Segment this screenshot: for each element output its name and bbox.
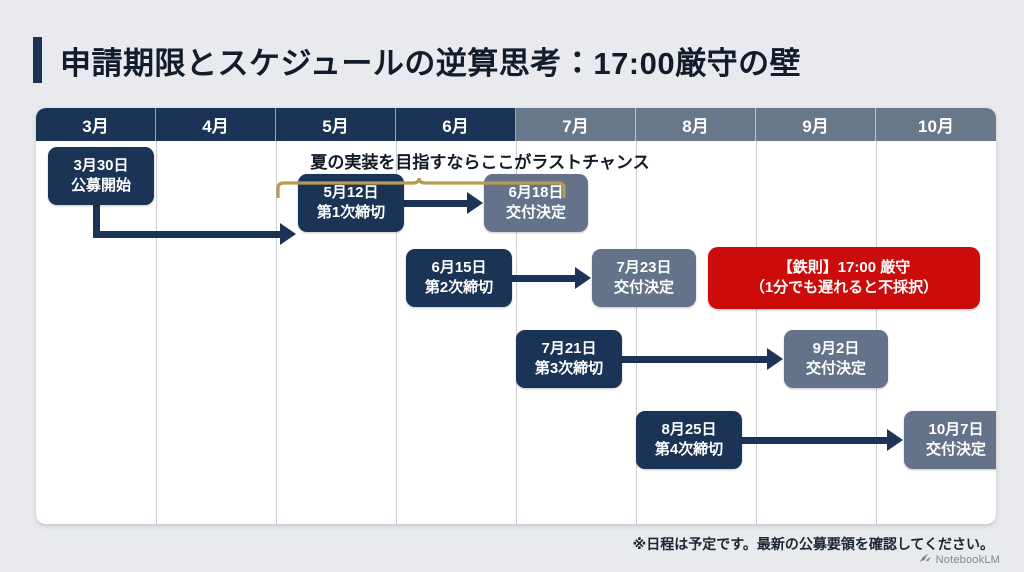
node-label: 交付決定 [926,440,986,460]
node-date: 9月2日 [813,339,860,359]
node-date: 7月23日 [616,258,671,278]
node-label: 第3次締切 [535,359,603,379]
grid-line [756,141,757,524]
node-shimekiri-4[interactable]: 8月25日 第4次締切 [636,411,742,469]
grid-line [156,141,157,524]
node-date: 8月25日 [661,420,716,440]
warning-line-2: （1分でも遅れると不採択） [750,278,938,298]
node-date: 7月21日 [541,339,596,359]
notebooklm-watermark-text: NotebookLM [936,554,1000,566]
node-date: 6月15日 [431,258,486,278]
connector-deadline1-to-kofu1 [404,200,468,207]
node-label: 第4次締切 [655,440,723,460]
connector-kobo-to-deadline1-horizontal [93,231,281,238]
node-kofu-2[interactable]: 7月23日 交付決定 [592,249,696,307]
footer-note: ※日程は予定です。最新の公募要領を確認してください。 [633,534,994,554]
node-shimekiri-3[interactable]: 7月21日 第3次締切 [516,330,622,388]
node-label: 第2次締切 [425,278,493,298]
node-label: 第1次締切 [317,203,385,223]
highlight-brace-icon [276,176,566,198]
connector-deadline4-to-kofu4 [742,437,888,444]
node-date: 3月30日 [73,156,128,176]
arrow-head-to-kofu2 [575,267,591,289]
connector-deadline3-to-kofu3 [622,356,768,363]
month-column-header-5: 7月 [516,108,636,141]
notebooklm-watermark: NotebookLM [919,553,1000,567]
connector-deadline2-to-kofu2 [512,275,576,282]
node-label: 交付決定 [614,278,674,298]
month-header-row: 3月 4月 5月 6月 7月 8月 9月 10月 [36,108,996,141]
month-column-header-4: 6月 [396,108,516,141]
month-column-header-1: 3月 [36,108,156,141]
node-label: 交付決定 [806,359,866,379]
highlight-caption: 夏の実装を目指すならここがラストチャンス [200,148,760,173]
arrow-head-to-deadline1 [280,223,296,245]
month-column-header-3: 5月 [276,108,396,141]
page-title: 申請期限とスケジュールの逆算思考：17:00厳守の壁 [60,38,801,83]
page-header: 申請期限とスケジュールの逆算思考：17:00厳守の壁 [33,36,801,84]
node-kofu-4[interactable]: 10月7日 交付決定 [904,411,996,469]
warning-line-1: 【鉄則】17:00 厳守 [778,258,911,278]
warning-banner-17-00[interactable]: 【鉄則】17:00 厳守 （1分でも遅れると不採択） [708,247,980,309]
node-kobo-kaishi[interactable]: 3月30日 公募開始 [48,147,154,205]
grid-line [636,141,637,524]
node-shimekiri-2[interactable]: 6月15日 第2次締切 [406,249,512,307]
month-column-header-6: 8月 [636,108,756,141]
arrow-head-to-kofu4 [887,429,903,451]
notebooklm-icon [919,553,932,567]
grid-line [276,141,277,524]
title-accent-bar [33,37,42,83]
month-column-header-2: 4月 [156,108,276,141]
month-column-header-8: 10月 [876,108,996,141]
arrow-head-to-kofu3 [767,348,783,370]
node-kofu-3[interactable]: 9月2日 交付決定 [784,330,888,388]
node-label: 公募開始 [71,176,131,196]
node-date: 10月7日 [928,420,983,440]
node-label: 交付決定 [506,203,566,223]
month-column-header-7: 9月 [756,108,876,141]
